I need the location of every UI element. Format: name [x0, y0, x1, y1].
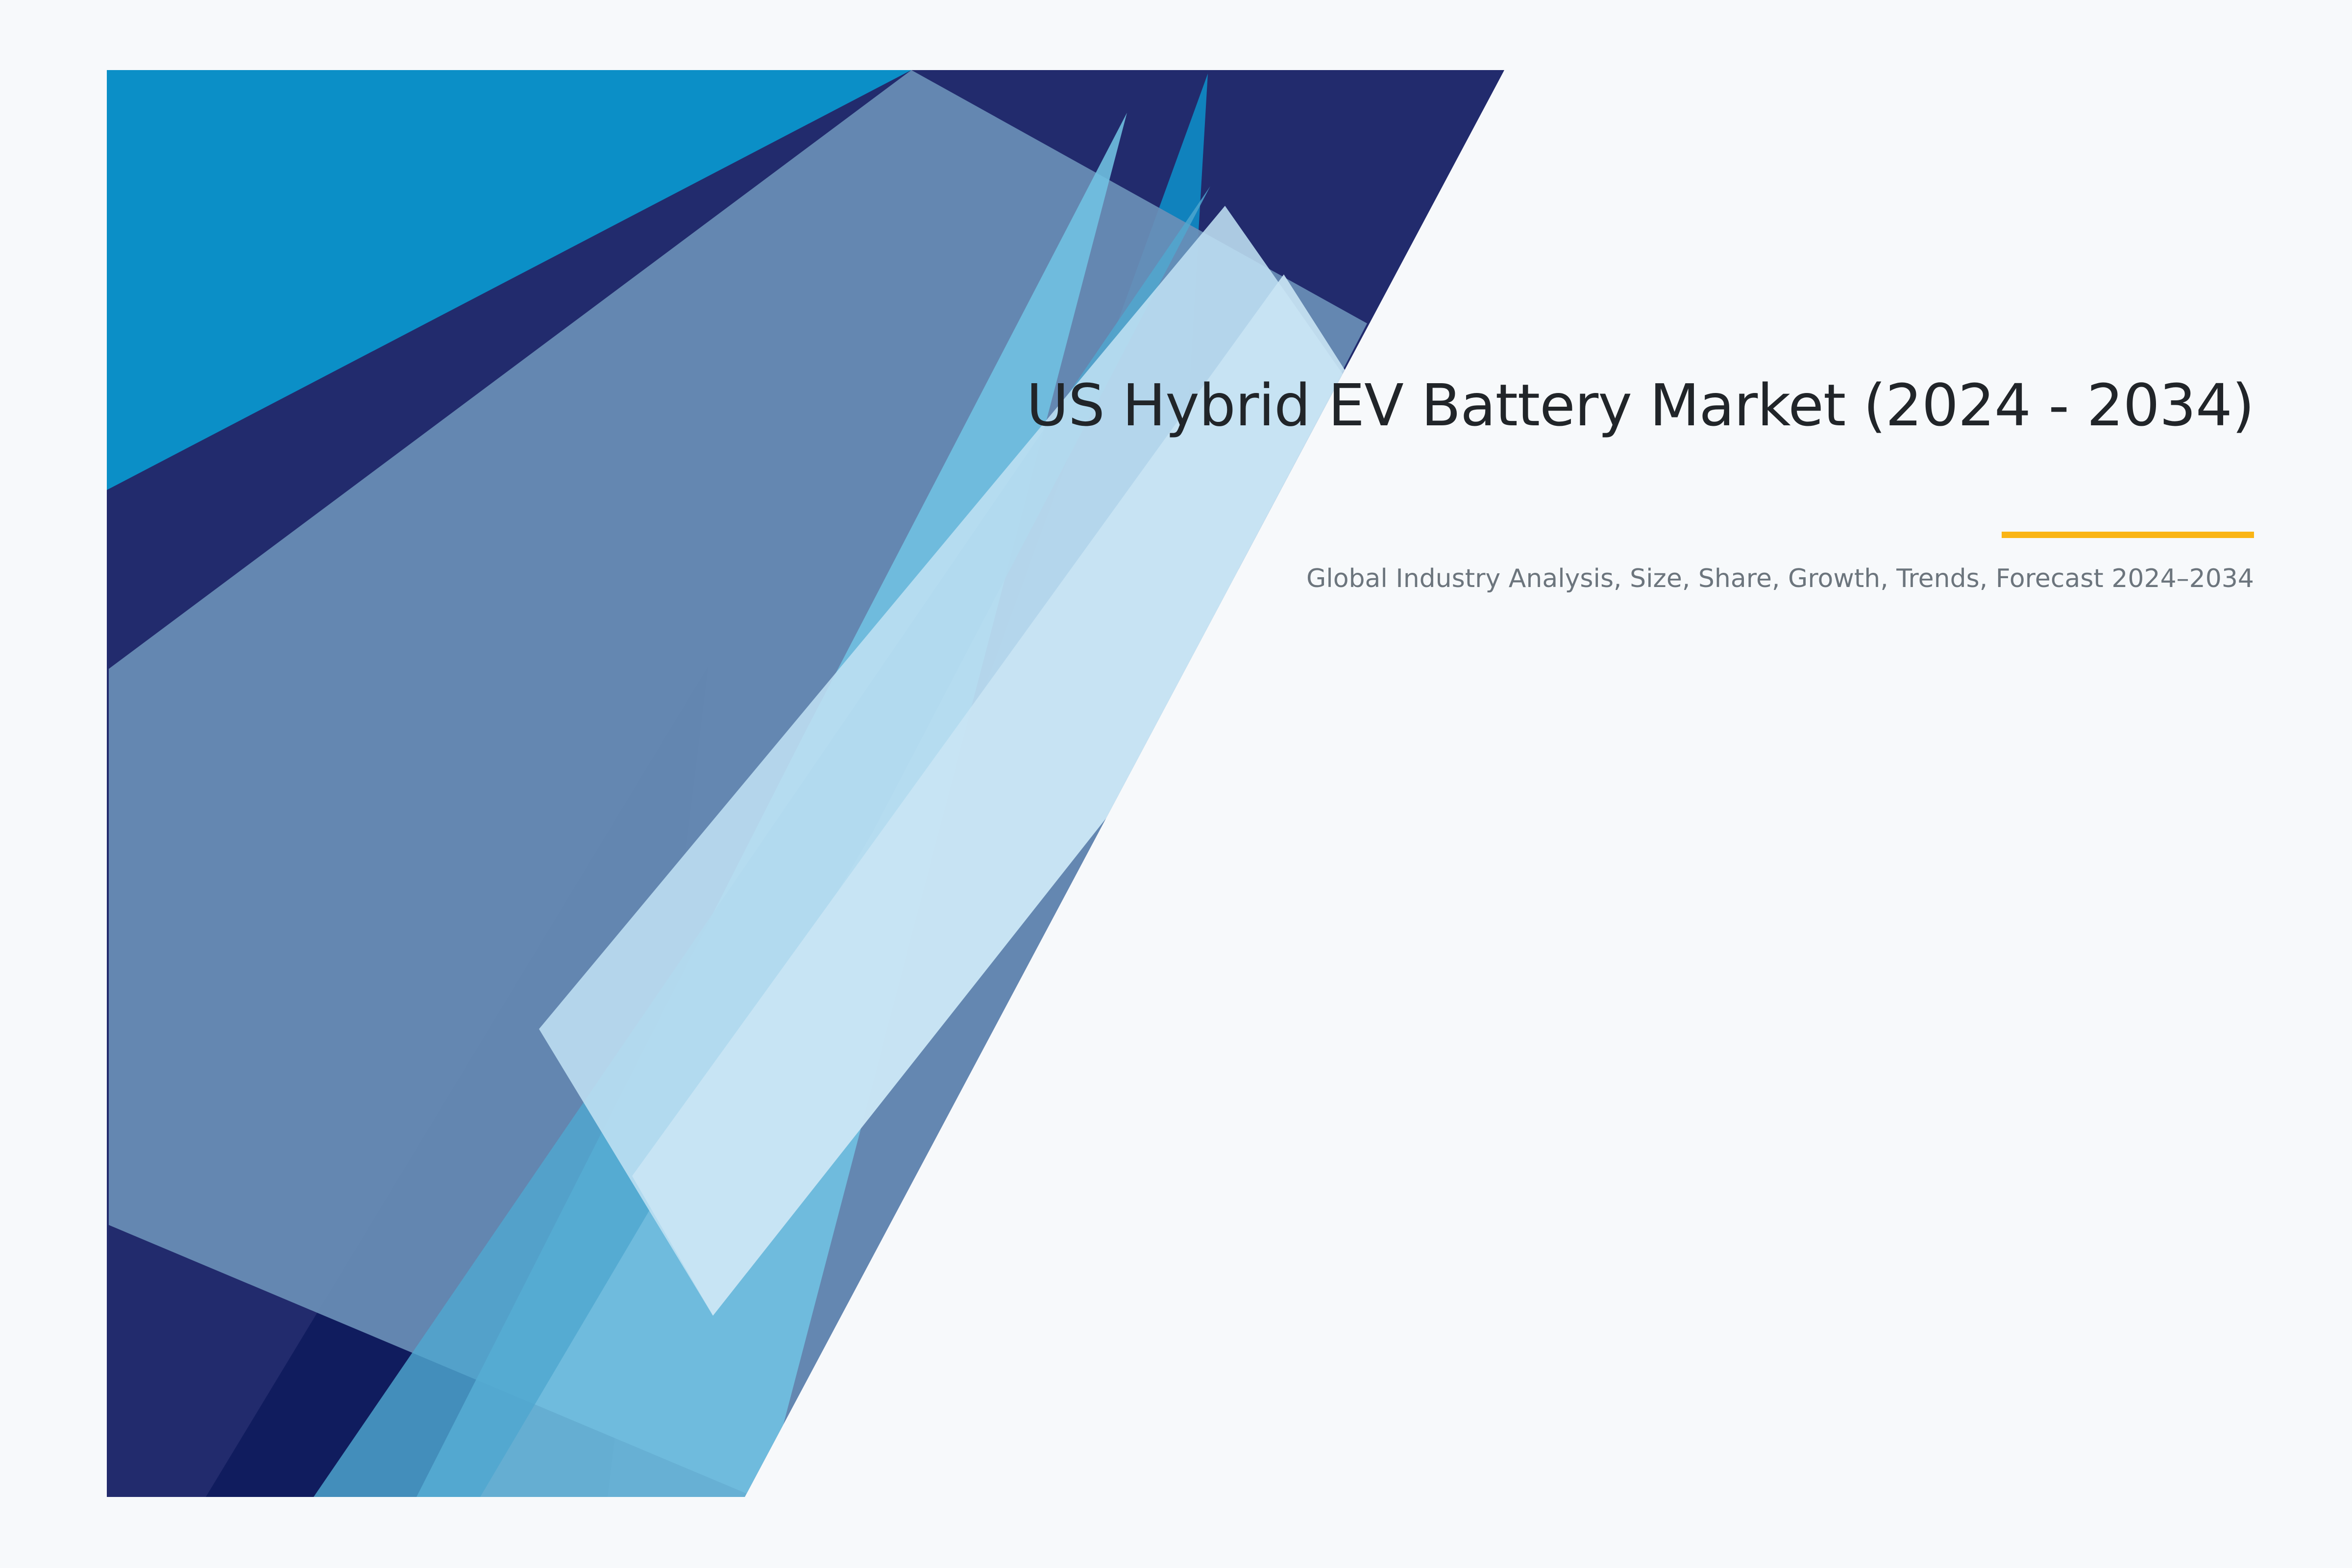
- page-title: US Hybrid EV Battery Market (2024 - 2034…: [882, 372, 2254, 439]
- title-wrapper: US Hybrid EV Battery Market (2024 - 2034…: [882, 372, 2254, 439]
- page-subtitle: Global Industry Analysis, Size, Share, G…: [882, 439, 2254, 596]
- cover-text-block: US Hybrid EV Battery Market (2024 - 2034…: [882, 372, 2254, 595]
- shape-cyan-block: [107, 70, 1504, 1497]
- shape-dark-navy-spike: [206, 666, 708, 1497]
- shape-steel-quad: [109, 70, 1367, 1497]
- title-accent-underline: [2002, 532, 2254, 538]
- abstract-geometric-banner: [0, 0, 2352, 1568]
- report-cover-page: US Hybrid EV Battery Market (2024 - 2034…: [0, 0, 2352, 1568]
- shape-sky-band: [416, 113, 1127, 1497]
- shape-navy-field: [107, 70, 1504, 1497]
